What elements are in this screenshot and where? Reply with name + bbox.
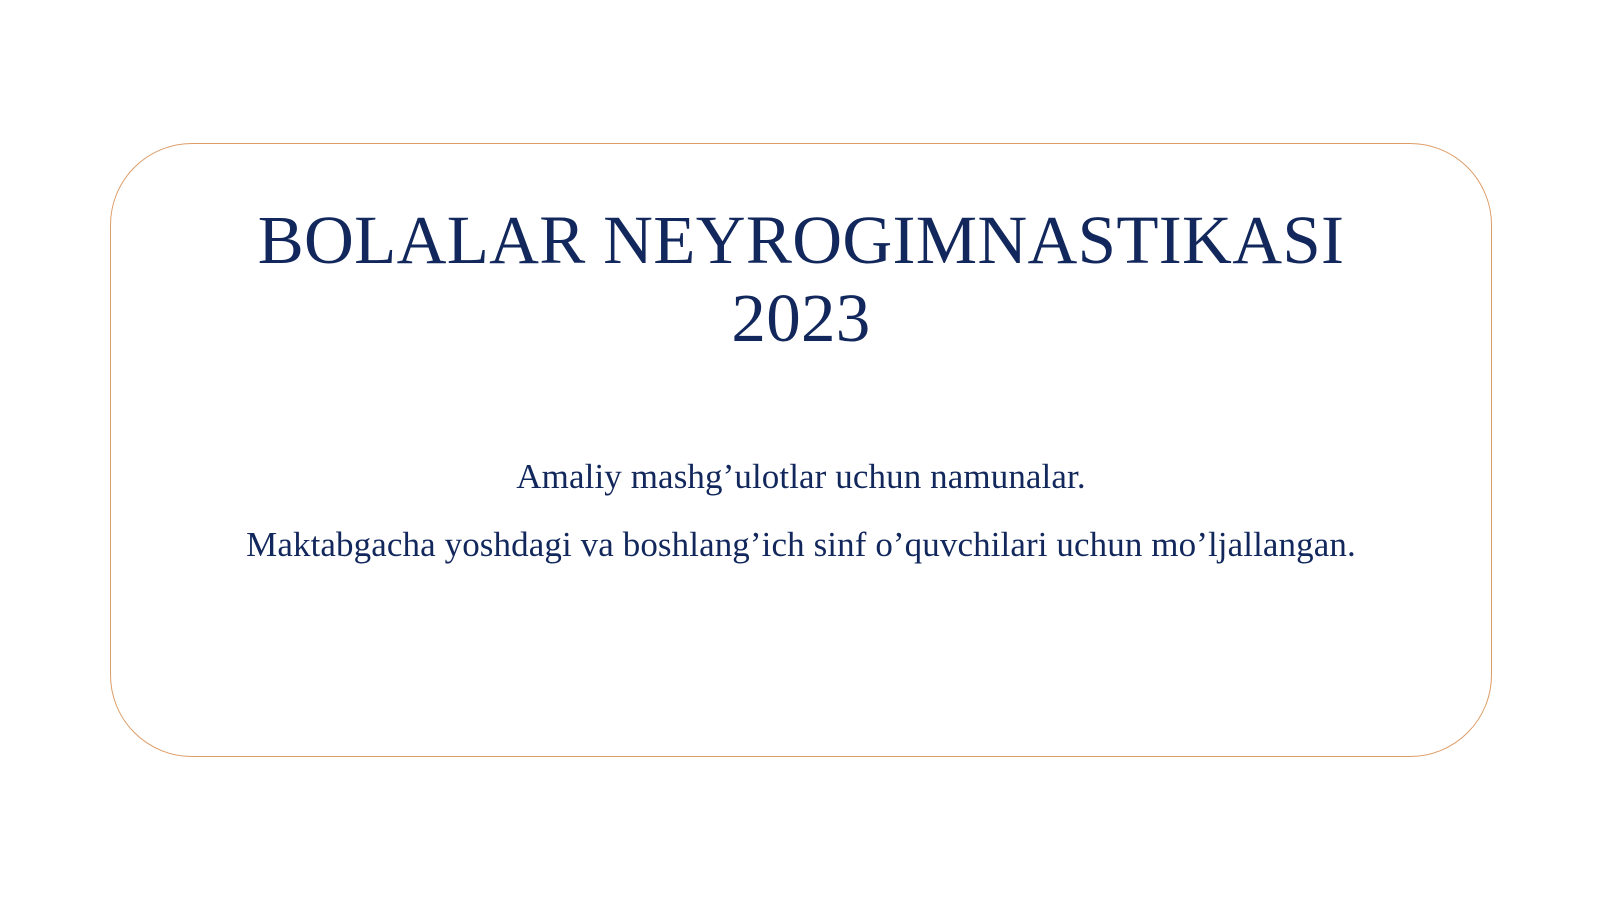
title-block: BOLALAR NEYROGIMNASTIKASI 2023: [196, 202, 1406, 358]
body-paragraph-1: Amaliy mashg’ulotlar uchun namunalar.: [201, 454, 1401, 501]
card-inner-content: BOLALAR NEYROGIMNASTIKASI 2023 Amaliy ma…: [111, 144, 1491, 756]
body-paragraph-2: Maktabgacha yoshdagi va boshlang’ich sin…: [201, 522, 1401, 569]
page-title: BOLALAR NEYROGIMNASTIKASI 2023: [196, 202, 1406, 358]
slide-content-card: BOLALAR NEYROGIMNASTIKASI 2023 Amaliy ma…: [110, 143, 1492, 757]
slide-canvas: BOLALAR NEYROGIMNASTIKASI 2023 Amaliy ma…: [0, 0, 1600, 900]
body-text-block: Amaliy mashg’ulotlar uchun namunalar. Ma…: [201, 454, 1401, 568]
title-line-2-year: 2023: [196, 280, 1406, 358]
title-line-1: BOLALAR NEYROGIMNASTIKASI: [258, 202, 1345, 278]
